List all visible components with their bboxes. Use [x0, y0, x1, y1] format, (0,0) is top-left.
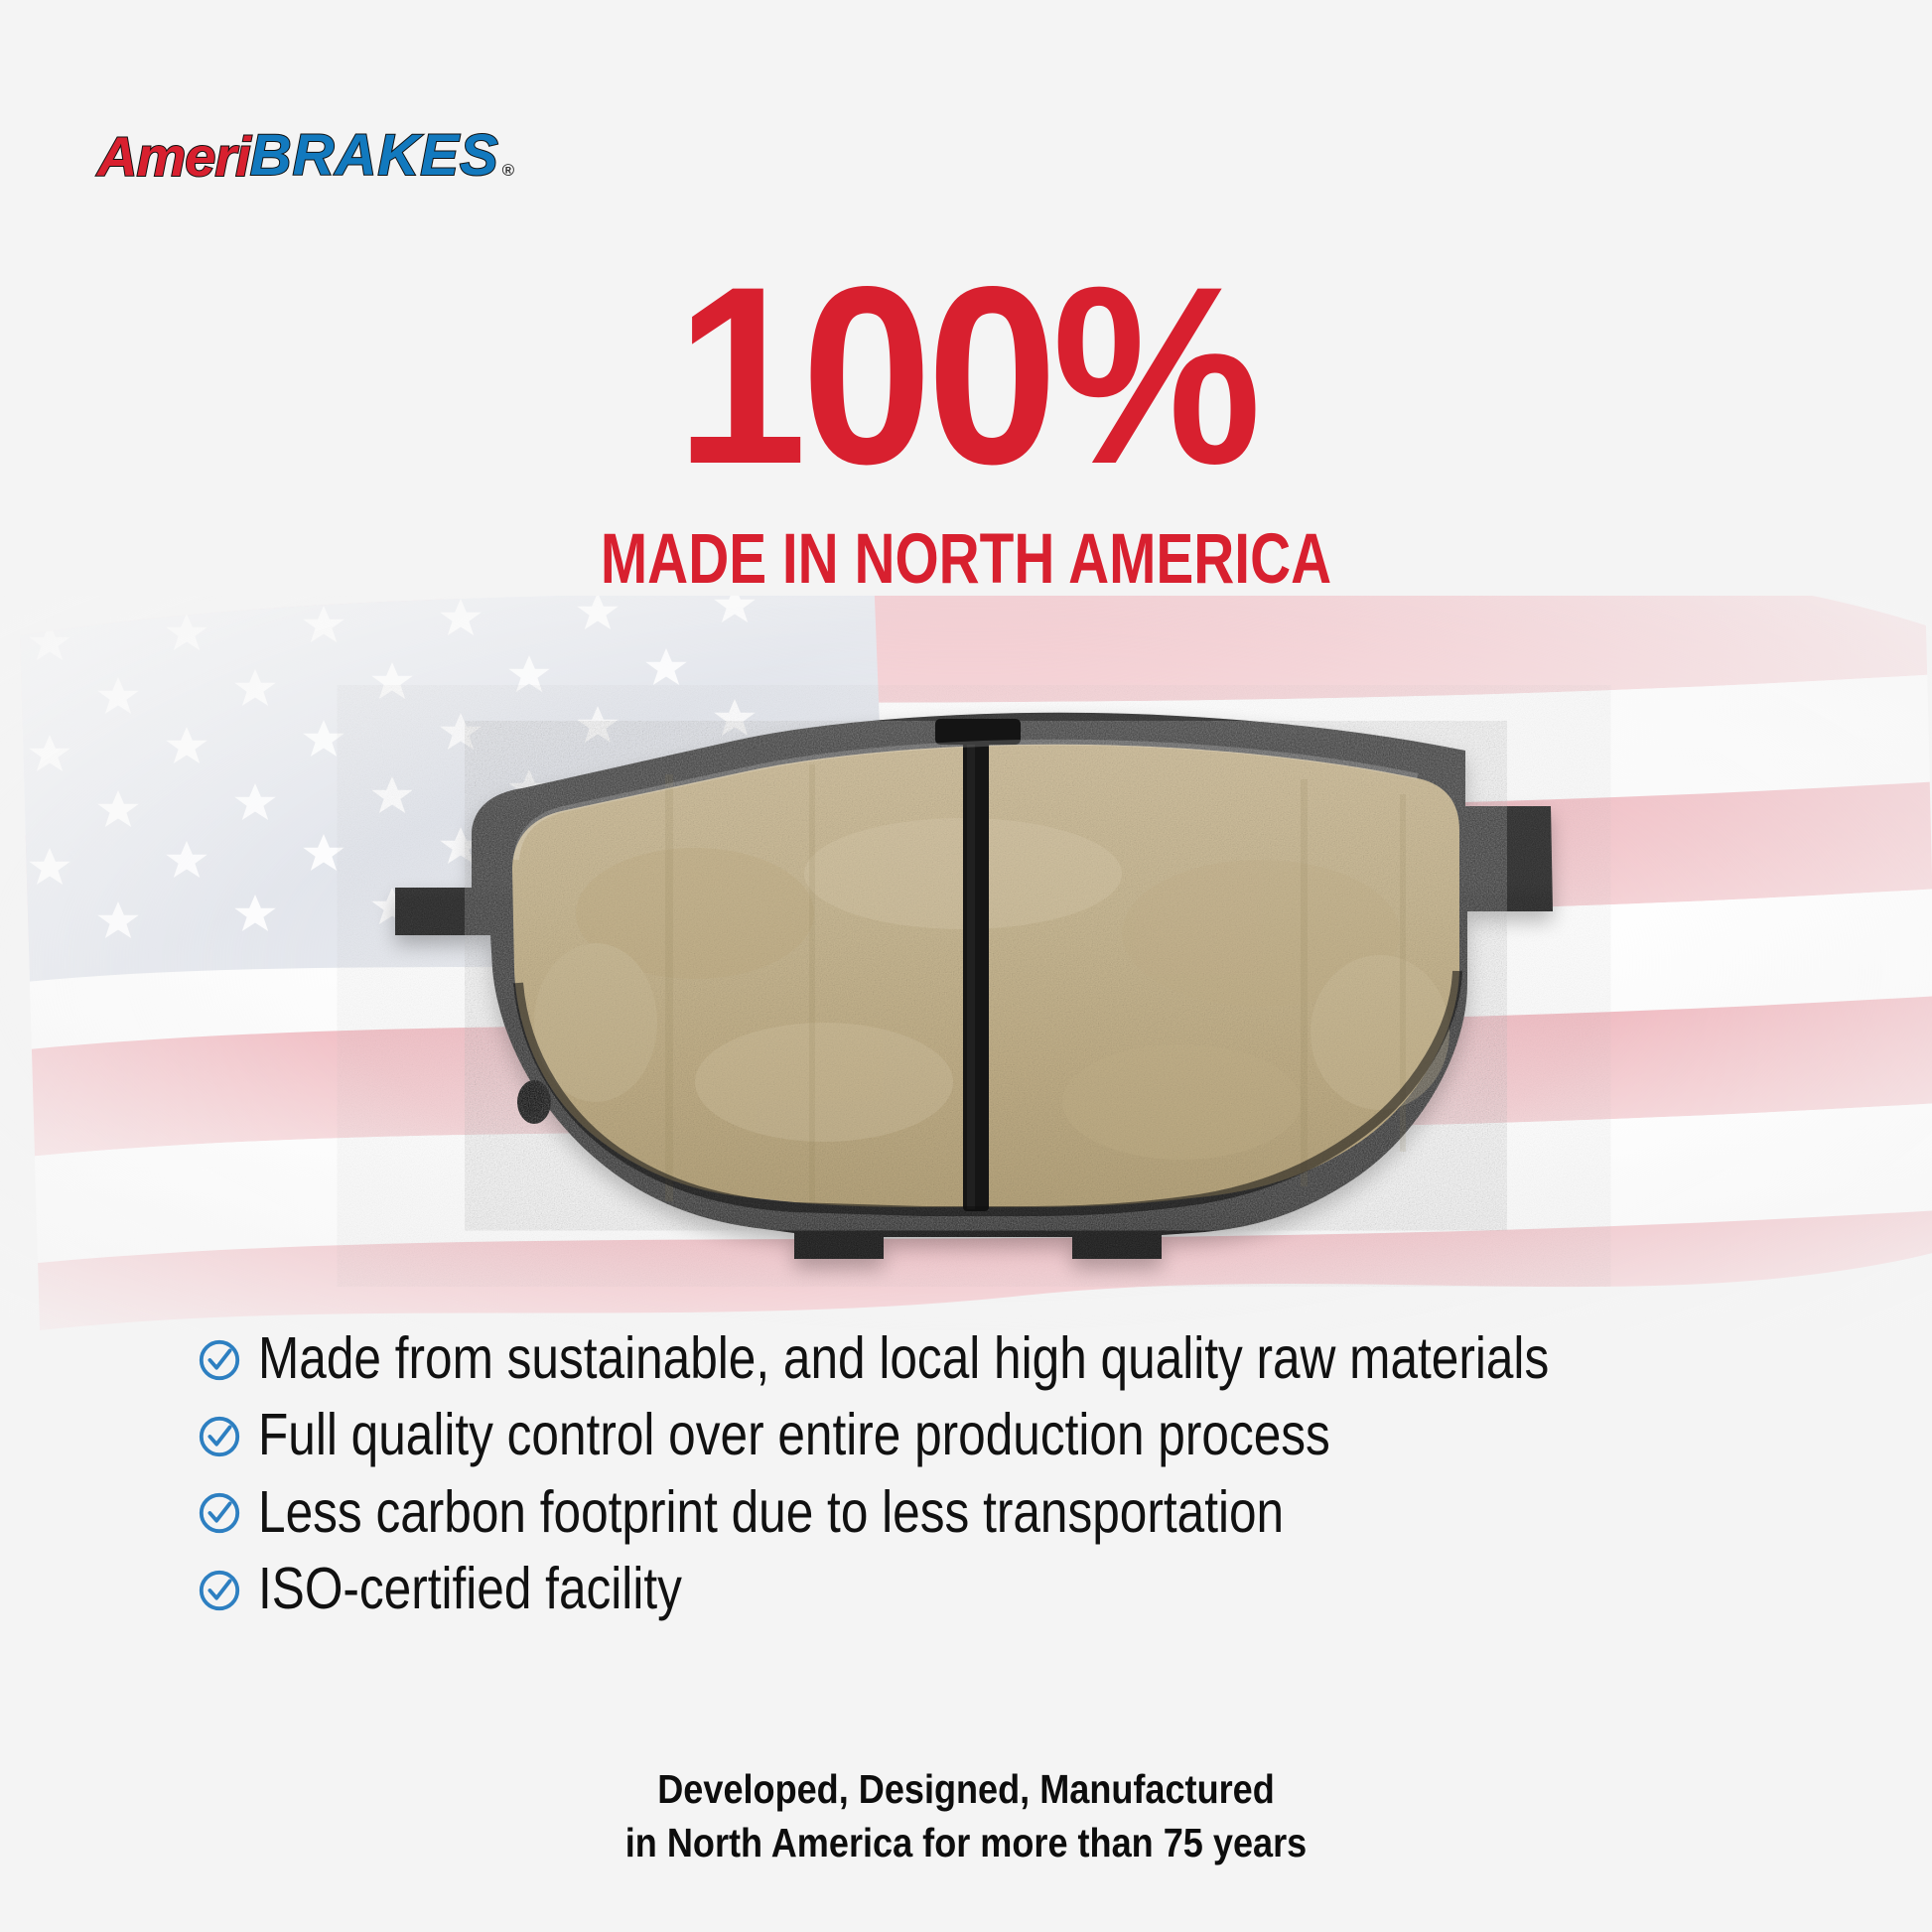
- headline-subtitle: MADE IN NORTH AMERICA: [194, 524, 1739, 595]
- list-item-label: ISO-certified facility: [258, 1559, 682, 1619]
- logo-text-ameri: Ameri: [97, 129, 250, 185]
- footer-line-1: Developed, Designed, Manufactured: [116, 1762, 1816, 1816]
- headline-percent: 100%: [68, 260, 1864, 493]
- check-circle-icon: [197, 1414, 242, 1459]
- check-circle-icon: [197, 1337, 242, 1383]
- feature-list: Made from sustainable, and local high qu…: [197, 1328, 1785, 1635]
- promo-banner: Ameri BRAKES ® 100% MADE IN NORTH AMERIC…: [0, 0, 1932, 1932]
- check-circle-icon: [197, 1490, 242, 1536]
- list-item-label: Less carbon footprint due to less transp…: [258, 1482, 1284, 1543]
- list-item: Made from sustainable, and local high qu…: [197, 1328, 1785, 1389]
- check-circle-icon: [197, 1568, 242, 1613]
- list-item: Less carbon footprint due to less transp…: [197, 1482, 1785, 1543]
- brand-logo[interactable]: Ameri BRAKES ®: [97, 127, 514, 185]
- list-item-label: Made from sustainable, and local high qu…: [258, 1328, 1549, 1389]
- footer-line-2: in North America for more than 75 years: [116, 1816, 1816, 1869]
- footer-tagline: Developed, Designed, Manufactured in Nor…: [116, 1762, 1816, 1869]
- registered-trademark-icon: ®: [502, 161, 515, 181]
- list-item-label: Full quality control over entire product…: [258, 1405, 1330, 1465]
- list-item: ISO-certified facility: [197, 1559, 1785, 1619]
- list-item: Full quality control over entire product…: [197, 1405, 1785, 1465]
- brake-pad-product-image: [268, 685, 1678, 1320]
- brake-pad-icon: [268, 685, 1678, 1320]
- logo-text-brakes: BRAKES: [250, 127, 499, 185]
